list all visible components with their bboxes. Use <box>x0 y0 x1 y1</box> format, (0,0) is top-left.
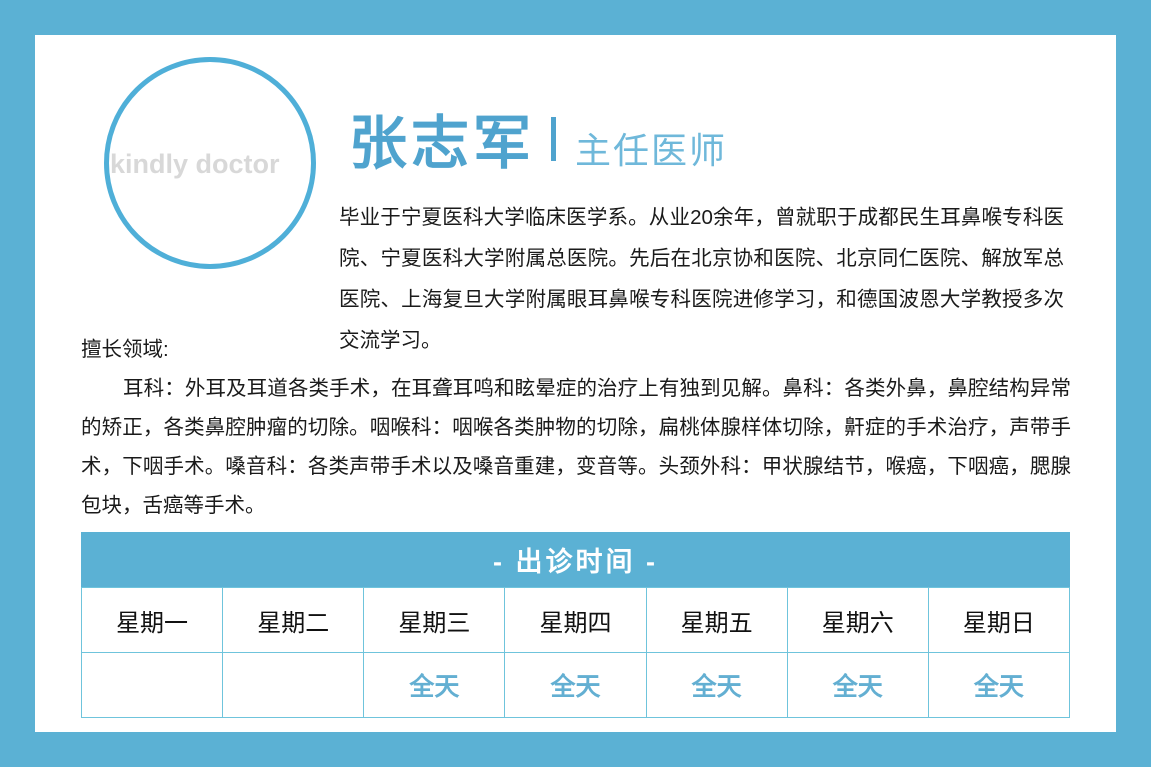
doctor-title: 主任医师 <box>575 133 727 169</box>
day-cell-7: 星期日 <box>928 588 1069 653</box>
slot-cell-7: 全天 <box>928 653 1069 718</box>
schedule-section: - 出诊时间 - 星期一 星期二 星期三 星期四 星期五 星期六 星期日 全天 … <box>81 532 1070 718</box>
day-cell-2: 星期二 <box>223 588 364 653</box>
slot-cell-6: 全天 <box>787 653 928 718</box>
slot-cell-3: 全天 <box>364 653 505 718</box>
day-cell-3: 星期三 <box>364 588 505 653</box>
avatar: kindly doctor <box>104 57 316 269</box>
profile-header: kindly doctor 张志军 主任医师 毕业于宁夏医科大学临床医学系。从业… <box>35 35 1116 305</box>
table-row-slots: 全天 全天 全天 全天 全天 <box>82 653 1070 718</box>
day-cell-5: 星期五 <box>646 588 787 653</box>
day-cell-1: 星期一 <box>82 588 223 653</box>
doctor-identity: 张志军 主任医师 <box>349 115 727 173</box>
slot-cell-4: 全天 <box>505 653 646 718</box>
day-cell-6: 星期六 <box>787 588 928 653</box>
schedule-title: - 出诊时间 - <box>81 532 1070 587</box>
slot-cell-1 <box>82 653 223 718</box>
table-row-days: 星期一 星期二 星期三 星期四 星期五 星期六 星期日 <box>82 588 1070 653</box>
slot-cell-5: 全天 <box>646 653 787 718</box>
doctor-name: 张志军 <box>349 115 535 173</box>
name-title-divider <box>551 117 556 161</box>
slot-cell-2 <box>223 653 364 718</box>
doctor-profile-card: kindly doctor 张志军 主任医师 毕业于宁夏医科大学临床医学系。从业… <box>35 35 1116 732</box>
specialty-section: 擅长领域: 耳科：外耳及耳道各类手术，在耳聋耳鸣和眩晕症的治疗上有独到见解。鼻科… <box>81 330 1071 525</box>
schedule-table: 星期一 星期二 星期三 星期四 星期五 星期六 星期日 全天 全天 全天 全天 … <box>81 587 1070 718</box>
specialty-body: 耳科：外耳及耳道各类手术，在耳聋耳鸣和眩晕症的治疗上有独到见解。鼻科：各类外鼻，… <box>81 369 1071 525</box>
day-cell-4: 星期四 <box>505 588 646 653</box>
specialty-label: 擅长领域: <box>81 330 1071 369</box>
avatar-ring <box>104 57 316 269</box>
